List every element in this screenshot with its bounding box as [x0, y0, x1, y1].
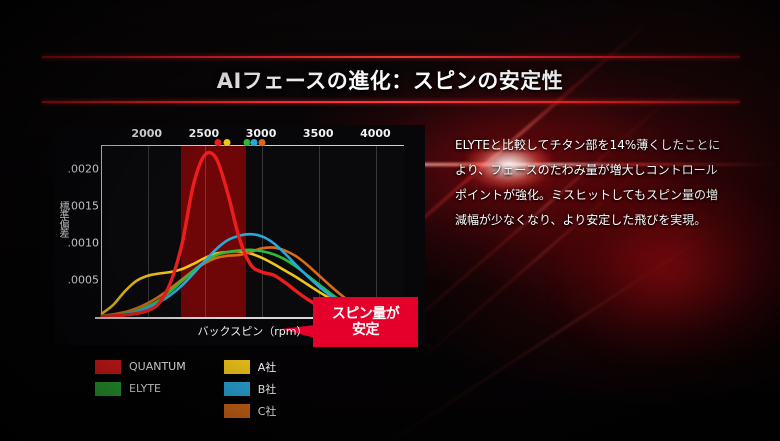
x-axis-title: バックスピン（rpm） — [101, 323, 404, 339]
legend-label: A社 — [258, 359, 277, 375]
y-tick-label: .0020 — [68, 162, 100, 175]
plot-area — [101, 145, 404, 317]
y-tick-label: .0005 — [68, 273, 100, 286]
legend-swatch-icon — [95, 360, 121, 374]
series-marker-A社 — [223, 139, 230, 146]
chart-legend: QUANTUMELYTEA社B社C社 — [95, 358, 325, 430]
legend-item[interactable]: B社 — [224, 380, 277, 397]
legend-item[interactable]: ELYTE — [95, 380, 186, 397]
description-line: ELYTEと比較してチタン部を14%薄くしたことに — [455, 133, 755, 158]
legend-item[interactable]: QUANTUM — [95, 358, 186, 375]
description-line: ポイントが強化。ミスヒットしてもスピン量の増 — [455, 183, 755, 208]
series-curves — [102, 146, 405, 318]
legend-column-2: A社B社C社 — [224, 358, 277, 430]
slide-root: AIフェースの進化：スピンの安定性 20002500300035004000 .… — [0, 0, 780, 441]
callout-line-1: スピン量が — [332, 306, 400, 322]
legend-item[interactable]: A社 — [224, 358, 277, 375]
description-line: 減幅が少なくなり、より安定した飛びを実現。 — [455, 208, 755, 233]
y-tick-label: .0010 — [68, 236, 100, 249]
chart-panel: 20002500300035004000 .0005.0010.0015.002… — [55, 125, 425, 345]
callout-box: スピン量が 安定 — [313, 297, 418, 347]
series-marker-B社 — [251, 139, 258, 146]
legend-column-1: QUANTUMELYTE — [95, 358, 186, 430]
legend-item[interactable]: C社 — [224, 402, 277, 419]
series-marker-C社 — [259, 139, 266, 146]
series-marker-QUANTUM — [214, 139, 221, 146]
legend-label: B社 — [258, 381, 277, 397]
legend-swatch-icon — [224, 360, 250, 374]
legend-label: C社 — [258, 403, 277, 419]
legend-swatch-icon — [224, 404, 250, 418]
description-copy: ELYTEと比較してチタン部を14%薄くしたことにより、フェースのたわみ量が増大… — [455, 133, 755, 233]
chart-inner: 20002500300035004000 .0005.0010.0015.002… — [55, 125, 425, 345]
legend-swatch-icon — [224, 382, 250, 396]
series-markers — [101, 139, 404, 149]
description-line: より、フェースのたわみ量が増大しコントロール — [455, 158, 755, 183]
page-title: AIフェースの進化：スピンの安定性 — [217, 65, 564, 95]
legend-label: QUANTUM — [129, 360, 186, 373]
y-axis-title: 標準偏差 — [57, 201, 67, 237]
title-divider-bottom — [42, 101, 740, 103]
legend-label: ELYTE — [129, 382, 161, 395]
title-band: AIフェースの進化：スピンの安定性 — [0, 58, 780, 101]
y-tick-label: .0015 — [68, 199, 100, 212]
legend-swatch-icon — [95, 382, 121, 396]
